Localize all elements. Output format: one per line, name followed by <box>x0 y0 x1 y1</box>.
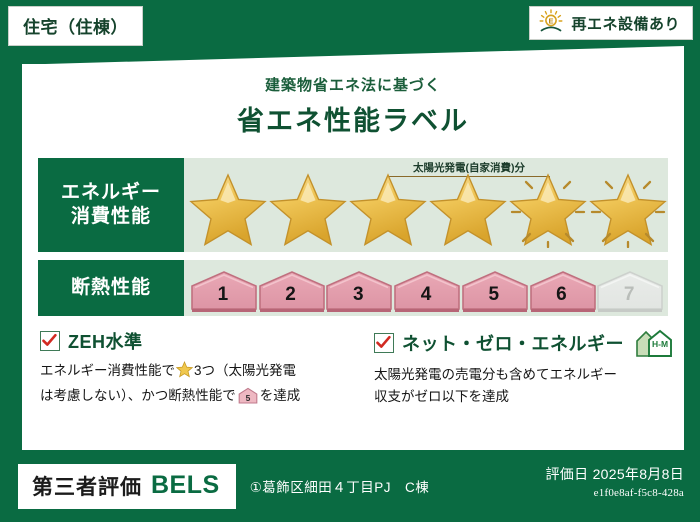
label-panel: 建築物省エネ法に基づく 省エネ性能ラベル エネルギー 消費性能 太陽光発電(自家… <box>22 46 684 450</box>
net-zero-criteria-column: ネット・ゼロ・エネルギー H-M 「ZEH-M」 太陽光発電の売電分も含めてエネ… <box>374 328 700 410</box>
insulation-grade-scale: 1234567 <box>190 269 662 313</box>
net-zero-text-line1: 太陽光発電の売電分も含めてエネルギー <box>374 367 617 382</box>
insulation-grade-inactive: 7 <box>596 269 662 313</box>
energy-label-line1: エネルギー <box>61 181 161 205</box>
solar-sun-icon: E <box>538 9 564 38</box>
insulation-grade-active: 5 <box>461 269 527 313</box>
page-title: 省エネ性能ラベル <box>22 99 684 138</box>
insulation-grade-active: 3 <box>325 269 391 313</box>
star-icon-solar <box>508 172 588 248</box>
red-check-icon <box>40 331 60 351</box>
star-icon-solar <box>588 172 668 248</box>
insulation-grade-number: 4 <box>421 284 432 313</box>
house-type-tag: 住宅（住棟） <box>8 6 143 46</box>
insulation-grade-inline-badge: 5 <box>238 392 258 407</box>
insulation-grade-active: 1 <box>190 269 256 313</box>
zeh-m-logo-caption: 「ZEH-M」 <box>680 344 700 358</box>
bels-evaluation-box: 第三者評価 BELS <box>18 464 236 509</box>
energy-performance-label: エネルギー 消費性能 <box>38 158 184 252</box>
insulation-performance-body: 1234567 <box>184 260 668 316</box>
insulation-performance-row: 断熱性能 1234567 <box>38 260 668 316</box>
insulation-grade-number: 3 <box>353 284 364 313</box>
title-block: 建築物省エネ法に基づく 省エネ性能ラベル <box>22 64 684 138</box>
bels-label: 第三者評価 <box>32 471 142 501</box>
star-icon-filled <box>268 172 348 248</box>
insulation-grade-number: 7 <box>624 284 635 313</box>
net-zero-text-line2: 収支がゼロ以下を達成 <box>374 389 509 404</box>
insulation-grade-active: 6 <box>529 269 595 313</box>
star-icon-filled <box>428 172 508 248</box>
insulation-performance-label: 断熱性能 <box>38 260 184 316</box>
red-check-icon <box>374 333 394 353</box>
criteria-section: ZEH水準 エネルギー消費性能で3つ（太陽光発電は考慮しない）、かつ断熱性能で5… <box>40 328 666 410</box>
insulation-grade-number: 5 <box>488 284 499 313</box>
net-zero-criteria-text: 太陽光発電の売電分も含めてエネルギー収支がゼロ以下を達成 <box>374 364 700 407</box>
zeh-text-part4: を達成 <box>260 388 301 403</box>
star-icon <box>176 366 193 381</box>
label-subtitle: 建築物省エネ法に基づく <box>22 74 684 95</box>
zeh-criteria-title: ZEH水準 <box>68 328 143 354</box>
zeh-m-logo-text: H-M <box>652 339 668 349</box>
svg-text:E: E <box>549 16 554 25</box>
footer-meta: 評価日 2025年8月8日 e1f0e8af-f5c8-428a <box>545 464 684 499</box>
zeh-criteria-column: ZEH水準 エネルギー消費性能で3つ（太陽光発電は考慮しない）、かつ断熱性能で5… <box>40 328 360 410</box>
energy-performance-label: 住宅（住棟） E 再エネ設備あり <box>0 0 700 522</box>
energy-performance-body: 太陽光発電(自家消費)分 <box>184 158 668 252</box>
renewable-energy-badge: E 再エネ設備あり <box>529 6 693 40</box>
bels-mark: BELS <box>151 471 220 500</box>
zeh-text-part3: は考慮しない）、かつ断熱性能で <box>40 388 236 403</box>
star-icon-filled <box>188 172 268 248</box>
zeh-text-part2: 3つ（太陽光発電 <box>194 363 296 378</box>
zeh-criteria-text: エネルギー消費性能で3つ（太陽光発電は考慮しない）、かつ断熱性能で5を達成 <box>40 360 360 410</box>
zeh-criteria-header: ZEH水準 <box>40 328 360 354</box>
energy-performance-row: エネルギー 消費性能 太陽光発電(自家消費)分 <box>38 158 668 252</box>
insulation-grade-number: 1 <box>218 284 229 313</box>
inline-badge-grade: 5 <box>245 393 250 403</box>
property-address: ①葛飾区細田４丁目PJ C棟 <box>250 476 430 496</box>
star-rating <box>184 172 668 248</box>
energy-label-line2: 消費性能 <box>71 205 151 229</box>
insulation-grade-active: 4 <box>393 269 459 313</box>
net-zero-criteria-header: ネット・ゼロ・エネルギー H-M 「ZEH-M」 <box>374 328 700 358</box>
net-zero-criteria-title: ネット・ゼロ・エネルギー <box>402 330 624 356</box>
insulation-grade-number: 2 <box>285 284 296 313</box>
renewable-badge-label: 再エネ設備あり <box>571 13 680 34</box>
zeh-text-part1: エネルギー消費性能で <box>40 363 175 378</box>
footer: 第三者評価 BELS ①葛飾区細田４丁目PJ C棟 評価日 2025年8月8日 … <box>0 450 700 522</box>
insulation-grade-number: 6 <box>556 284 567 313</box>
evaluation-date: 評価日 2025年8月8日 <box>545 464 684 484</box>
zeh-m-logo: H-M 「ZEH-M」 <box>634 328 700 358</box>
star-icon-filled <box>348 172 428 248</box>
certificate-id: e1f0e8af-f5c8-428a <box>545 487 684 499</box>
insulation-grade-active: 2 <box>258 269 324 313</box>
